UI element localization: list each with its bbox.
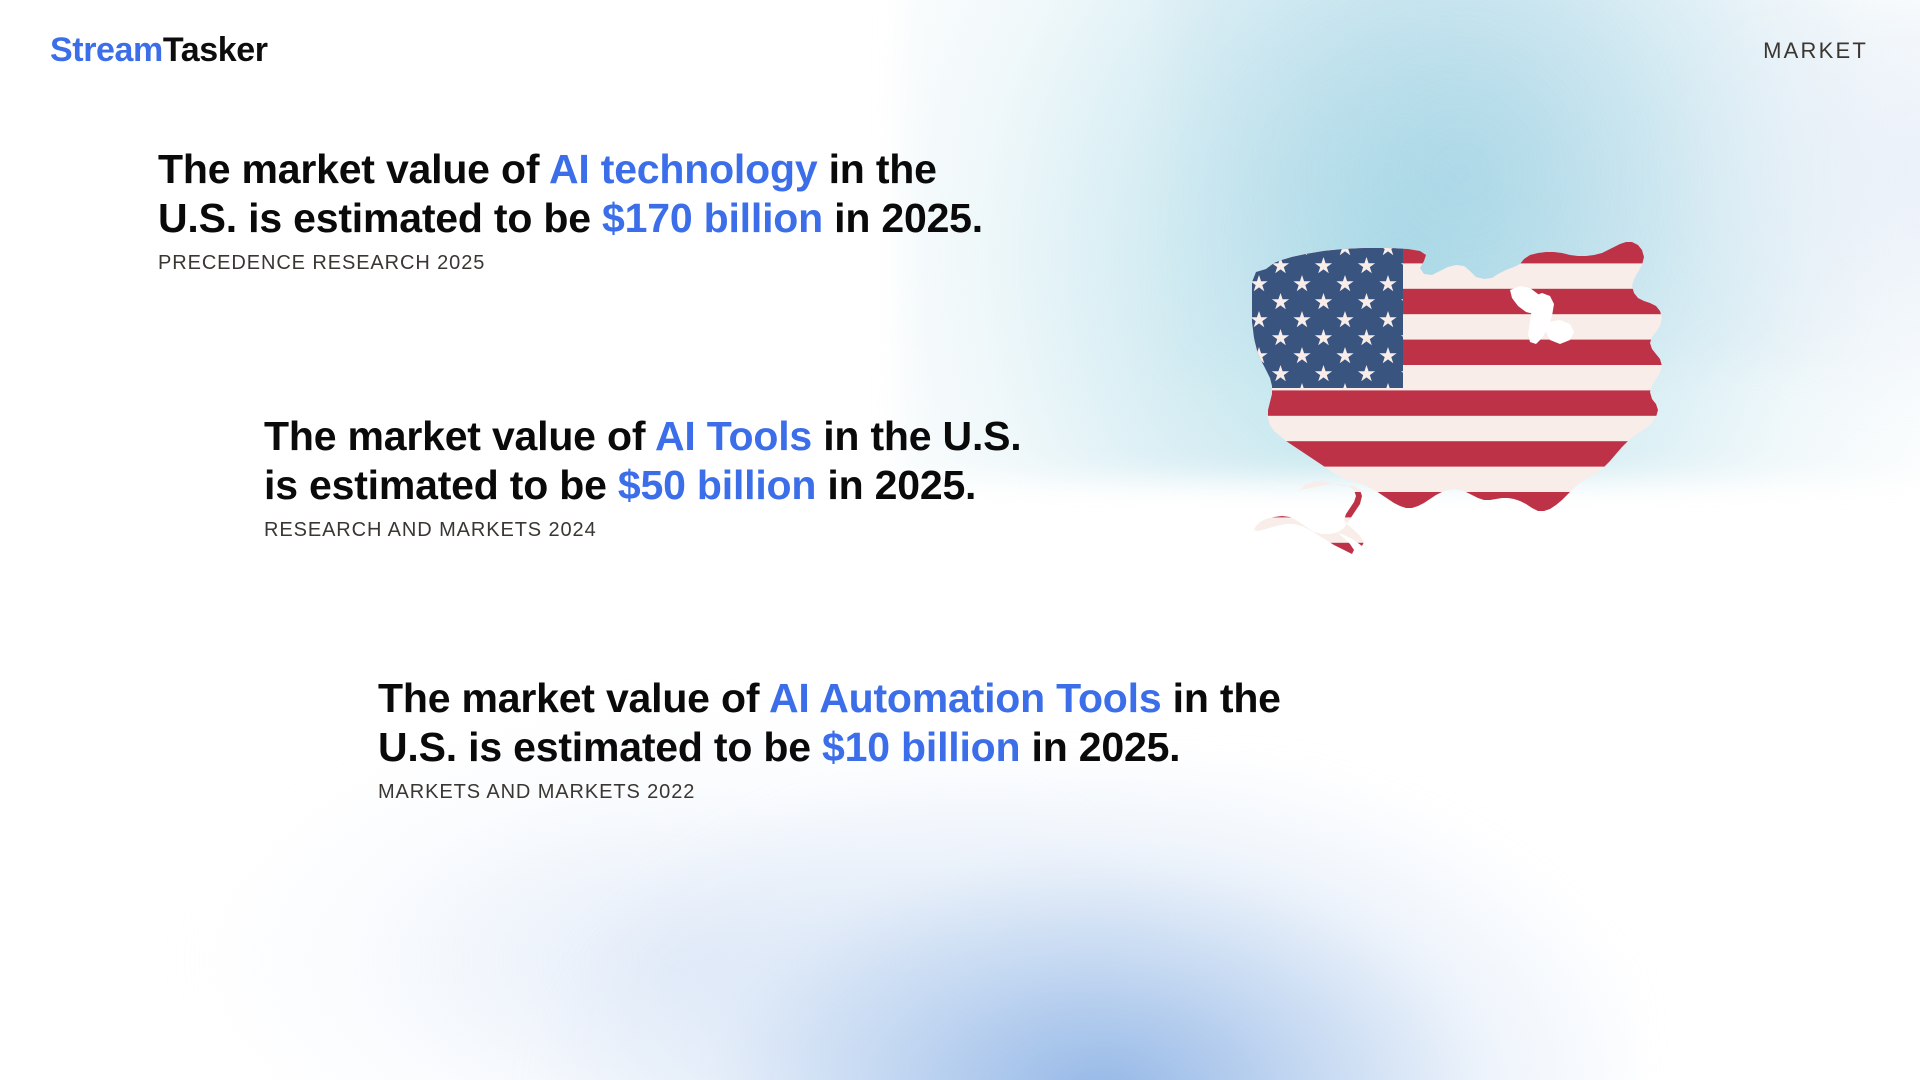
line1-pre-text: The market value of [264,413,655,459]
stat-headline-3-line2: U.S. is estimated to be $10 billion in 2… [378,723,1281,772]
line2-pre-text: U.S. is estimated to be [378,724,822,770]
line2-post-text: in 2025. [816,462,976,508]
line1-post-text: in the [817,146,936,192]
stat-source-2: RESEARCH AND MARKETS 2024 [264,520,1021,540]
stat-headline-1-line1: The market value of AI technology in the [158,145,983,194]
stat-block-1: The market value of AI technology in the… [158,145,983,273]
brand-logo[interactable]: StreamTasker [50,33,268,67]
line1-highlight-text: AI technology [549,146,817,192]
slide-canvas: StreamTasker MARKET The market value of … [0,0,1920,1080]
line1-post-text: in the U.S. [812,413,1021,459]
stat-headline-1: The market value of AI technology in the… [158,145,983,243]
us-map-body [1248,238,1698,568]
line2-highlight-value: $10 billion [822,724,1020,770]
section-eyebrow-label: MARKET [1763,40,1868,62]
stat-headline-2-line1: The market value of AI Tools in the U.S. [264,412,1021,461]
line2-highlight-value: $170 billion [602,195,823,241]
line1-highlight-text: AI Tools [655,413,812,459]
stat-source-3: MARKETS AND MARKETS 2022 [378,782,1281,802]
line2-highlight-value: $50 billion [618,462,816,508]
line2-pre-text: is estimated to be [264,462,618,508]
line2-post-text: in 2025. [1020,724,1180,770]
stat-block-2: The market value of AI Tools in the U.S.… [264,412,1021,540]
stat-headline-2-line2: is estimated to be $50 billion in 2025. [264,461,1021,510]
right-edge-glow [1660,0,1920,420]
line1-pre-text: The market value of [158,146,549,192]
stat-headline-3-line1: The market value of AI Automation Tools … [378,674,1281,723]
usa-flag-map-icon [1248,238,1698,568]
stat-headline-3: The market value of AI Automation Tools … [378,674,1281,772]
line2-pre-text: U.S. is estimated to be [158,195,602,241]
line2-post-text: in 2025. [823,195,983,241]
line1-highlight-text: AI Automation Tools [769,675,1162,721]
line1-post-text: in the [1161,675,1280,721]
logo-secondary-text: Tasker [163,31,268,69]
stat-block-3: The market value of AI Automation Tools … [378,674,1281,802]
stat-headline-2: The market value of AI Tools in the U.S.… [264,412,1021,510]
line1-pre-text: The market value of [378,675,769,721]
blue-glow [520,760,1640,1080]
logo-primary-text: Stream [50,31,163,69]
stat-headline-1-line2: U.S. is estimated to be $170 billion in … [158,194,983,243]
stat-source-1: PRECEDENCE RESEARCH 2025 [158,253,983,273]
